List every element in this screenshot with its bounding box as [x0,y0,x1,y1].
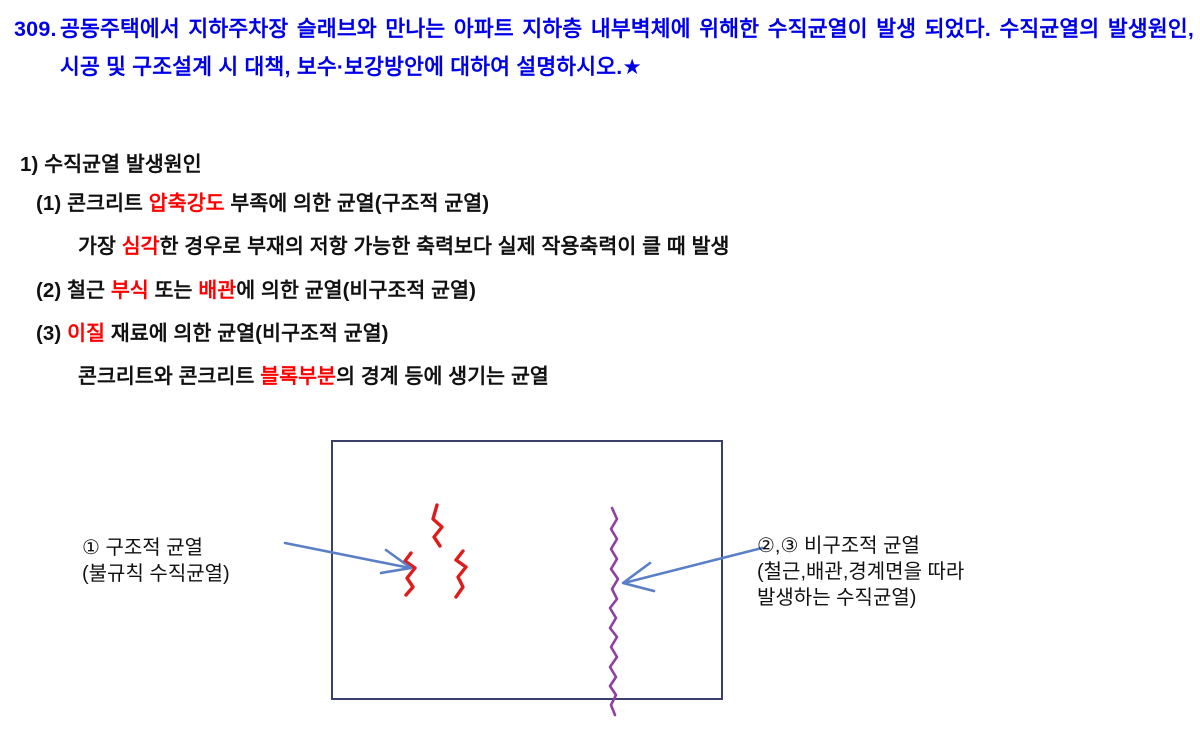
outline-item-1: (1) 콘크리트 압축강도 부족에 의한 균열(구조적 균열) [36,192,489,216]
outline-item-3-detail: 콘크리트와 콘크리트 블록부분의 경계 등에 생기는 균열 [78,365,549,389]
outline-item-2: (2) 철근 부식 또는 배관에 의한 균열(비구조적 균열) [36,279,476,303]
outline-item-3: (3) 이질 재료에 의한 균열(비구조적 균열) [36,322,389,346]
item-2-marker: (2) [36,279,61,302]
question-text: 공동주택에서 지하주차장 슬래브와 만나는 아파트 지하층 내부벽체에 위해한 … [60,10,1194,86]
wall-crack-diagram: ① 구조적 균열 (불규칙 수직균열) ②,③ 비구조적 균열 (철근,배관,경… [0,415,1200,730]
star-icon: ★ [622,55,641,79]
section-1-label: 수직균열 발생원인 [44,153,201,176]
annotation-structural-crack: ① 구조적 균열 (불규칙 수직균열) [82,535,230,587]
item-1-text-before: 콘크리트 [67,192,149,215]
item-2-text-after: 에 의한 균열(비구조적 균열) [236,279,476,302]
item-1-marker: (1) [36,192,61,215]
outline-section-1: 1) 수직균열 발생원인 [20,153,202,177]
question-number: 309. [14,10,60,48]
annotation-structural-line-2: (불규칙 수직균열) [82,561,230,587]
annotation-nonstructural-crack: ②,③ 비구조적 균열 (철근,배관,경계면을 따라 발생하는 수직균열) [757,533,964,611]
item-3-text-after: 재료에 의한 균열(비구조적 균열) [105,322,389,345]
question-heading: 309. 공동주택에서 지하주차장 슬래브와 만나는 아파트 지하층 내부벽체에… [14,10,1194,86]
item-1-keyword: 압축강도 [149,192,225,215]
annotation-nonstructural-line-1: ②,③ 비구조적 균열 [757,533,964,559]
item-1-detail-after: 한 경우로 부재의 저항 가능한 축력보다 실제 작용축력이 클 때 발생 [160,235,730,258]
section-1-marker: 1) [20,153,38,176]
item-1-detail-keyword: 심각 [122,235,160,258]
item-2-text-middle: 또는 [149,279,199,302]
item-3-detail-keyword: 블록부분 [260,365,336,388]
item-2-keyword-2: 배관 [198,279,236,302]
annotation-nonstructural-line-3: 발생하는 수직균열) [757,585,964,611]
annotation-structural-line-1: ① 구조적 균열 [82,535,230,561]
item-1-detail-before: 가장 [78,235,122,258]
item-3-detail-before: 콘크리트와 콘크리트 [78,365,260,388]
item-2-keyword-1: 부식 [111,279,149,302]
outline-item-1-detail: 가장 심각한 경우로 부재의 저항 가능한 축력보다 실제 작용축력이 클 때 … [78,235,730,259]
wall-section-box [331,440,723,700]
item-1-text-after: 부족에 의한 균열(구조적 균열) [225,192,490,215]
annotation-nonstructural-line-2: (철근,배관,경계면을 따라 [757,559,964,585]
item-3-marker: (3) [36,322,61,345]
item-3-keyword: 이질 [67,322,105,345]
item-3-detail-after: 의 경계 등에 생기는 균열 [336,365,549,388]
item-2-text-before: 철근 [67,279,111,302]
